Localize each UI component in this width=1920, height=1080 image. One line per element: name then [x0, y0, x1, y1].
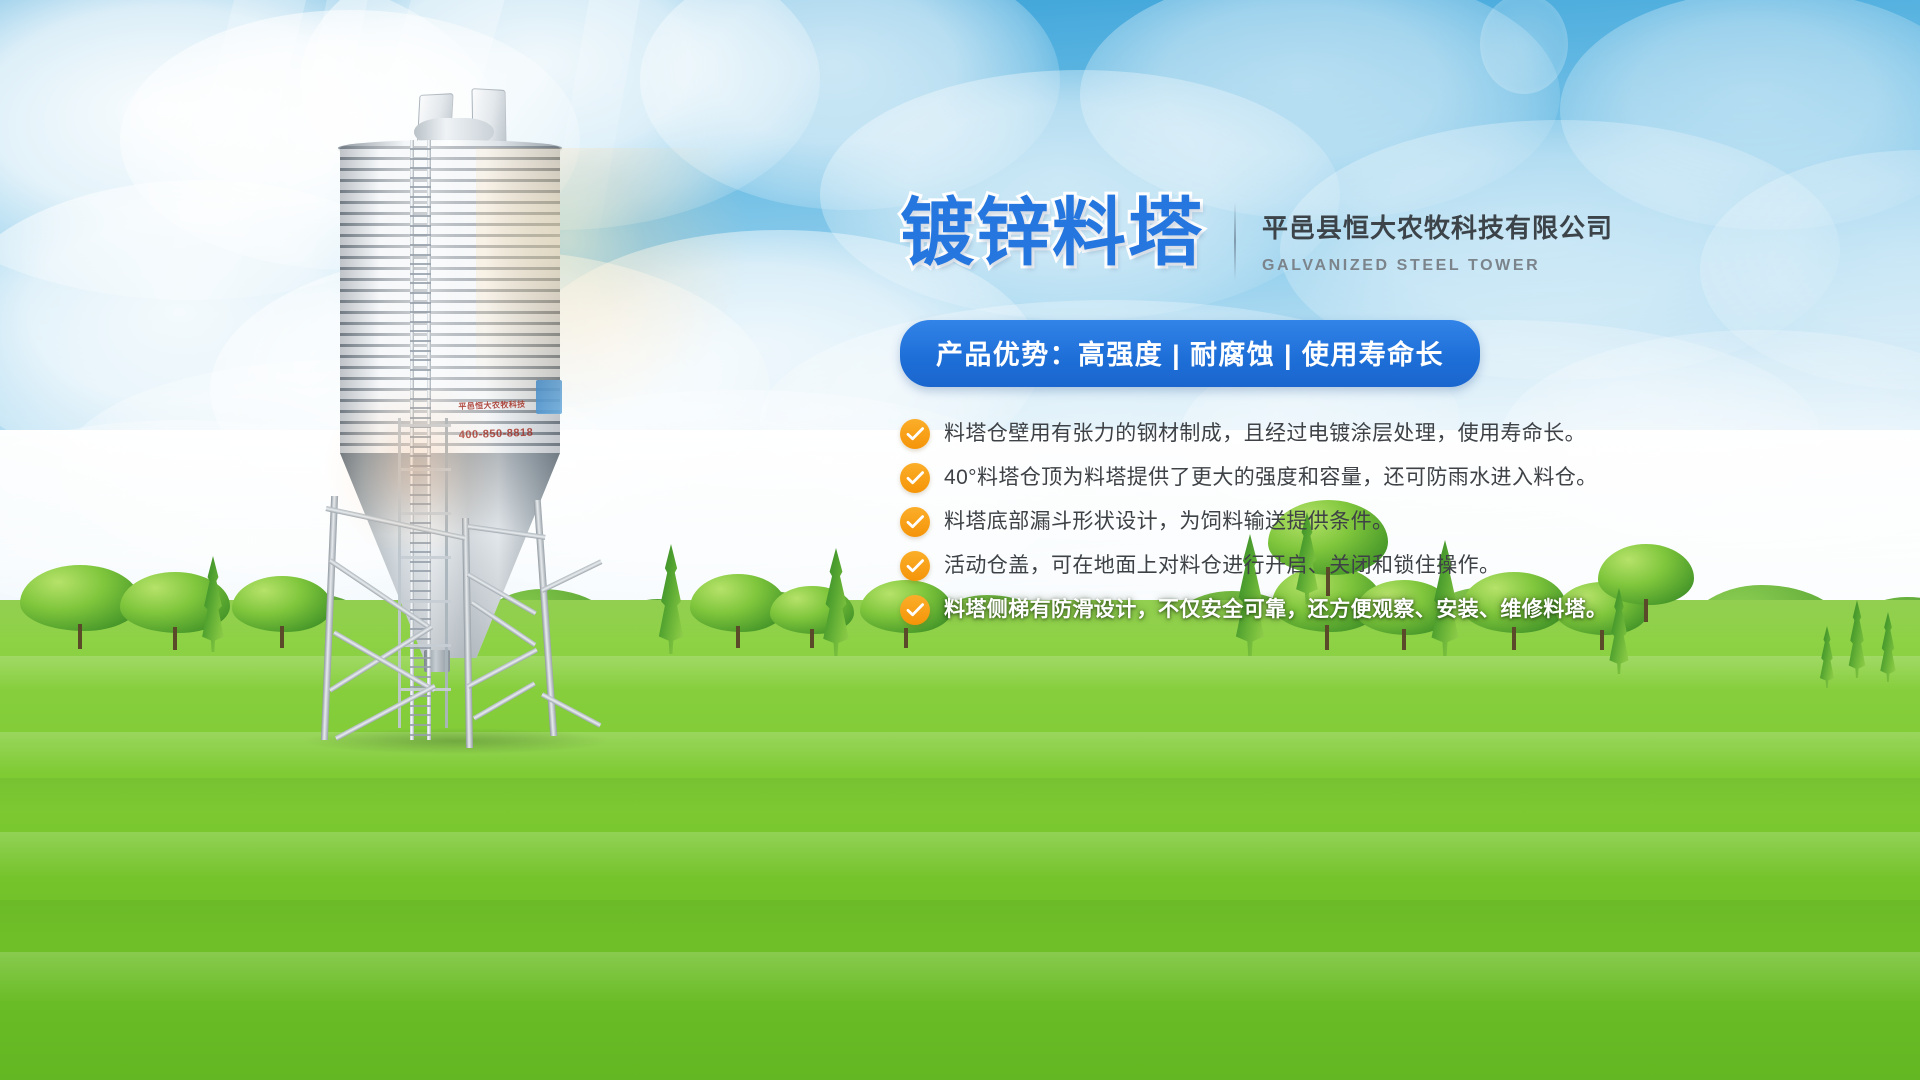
ladder-rung	[410, 225, 431, 227]
title-right-block: 平邑县恒大农牧科技有限公司 GALVANIZED STEEL TOWER	[1262, 196, 1613, 275]
feature-bullet-label: 料塔仓壁用有张力的钢材制成，且经过电镀涂层处理，使用寿命长。	[944, 420, 1586, 448]
page-title: 镀锌料塔	[900, 196, 1204, 270]
ladder-rung	[410, 369, 431, 371]
cage-bar	[401, 512, 451, 515]
ladder-rung	[410, 254, 431, 256]
advantages-badge: 产品优势：高强度 | 耐腐蚀 | 使用寿命长	[900, 320, 1480, 387]
ladder-rung	[410, 734, 431, 736]
check-icon	[900, 463, 930, 493]
conifer-tree	[652, 544, 690, 654]
content-panel: 镀锌料塔 平邑县恒大农牧科技有限公司 GALVANIZED STEEL TOWE…	[900, 196, 1910, 639]
feature-bullet: 料塔底部漏斗形状设计，为饲料输送提供条件。	[900, 507, 1910, 537]
cage-bar	[401, 600, 451, 603]
ladder-rung	[410, 273, 431, 275]
ladder-rung	[410, 244, 431, 246]
check-icon	[900, 419, 930, 449]
ladder-rung	[410, 148, 431, 150]
title-divider	[1234, 202, 1236, 280]
check-icon	[900, 595, 930, 625]
ladder-rung	[410, 398, 431, 400]
ladder-rung	[410, 359, 431, 361]
feature-bullet: 40°料塔仓顶为料塔提供了更大的强度和容量，还可防雨水进入料仓。	[900, 463, 1910, 493]
ladder-rung	[410, 302, 431, 304]
ladder-rung	[410, 292, 431, 294]
ladder-rung	[410, 330, 431, 332]
blue-side-fitting	[536, 380, 562, 414]
feature-bullet-label: 料塔底部漏斗形状设计，为饲料输送提供条件。	[944, 508, 1393, 536]
promotional-banner: 平邑恒大农牧科技 400-850-8818 镀锌料塔 平邑县恒大农牧科技有限公司…	[0, 0, 1920, 1080]
ladder-rung	[410, 196, 431, 198]
ladder-rung	[410, 407, 431, 409]
galvanized-steel-tower-image: 平邑恒大农牧科技 400-850-8818	[296, 88, 596, 748]
cross-brace	[473, 681, 536, 720]
ladder-rung	[410, 167, 431, 169]
ladder-rung	[410, 388, 431, 390]
cage-bar	[401, 556, 451, 559]
check-icon	[900, 551, 930, 581]
conifer-tree	[196, 556, 230, 652]
ladder-rung	[410, 321, 431, 323]
ladder-rung	[410, 215, 431, 217]
ladder-rung	[410, 234, 431, 236]
title-row: 镀锌料塔 平邑县恒大农牧科技有限公司 GALVANIZED STEEL TOWE…	[900, 196, 1910, 280]
ladder-rung	[410, 263, 431, 265]
english-subtitle: GALVANIZED STEEL TOWER	[1262, 257, 1613, 275]
cage-bar	[401, 424, 451, 427]
company-name: 平邑县恒大农牧科技有限公司	[1262, 208, 1613, 245]
ladder-rung	[410, 350, 431, 352]
feature-bullet-label: 40°料塔仓顶为料塔提供了更大的强度和容量，还可防雨水进入料仓。	[944, 464, 1598, 492]
feature-bullet: 活动仓盖，可在地面上对料仓进行开启、关闭和锁住操作。	[900, 551, 1910, 581]
check-icon	[900, 507, 930, 537]
ladder-rung	[410, 206, 431, 208]
ladder-rung	[410, 282, 431, 284]
cage-bar	[401, 468, 451, 471]
ladder-rung	[410, 177, 431, 179]
ladder-rung	[410, 378, 431, 380]
feature-bullet-list: 料塔仓壁用有张力的钢材制成，且经过电镀涂层处理，使用寿命长。40°料塔仓顶为料塔…	[900, 419, 1910, 625]
support-leg	[321, 496, 338, 740]
ladder-rung	[410, 340, 431, 342]
cross-brace	[541, 559, 603, 592]
ladder-rung	[410, 186, 431, 188]
cage-bar	[401, 644, 451, 647]
feature-bullet: 料塔侧梯有防滑设计，不仅安全可靠，还方便观察、安装、维修料塔。	[900, 595, 1910, 625]
ladder-rung	[410, 158, 431, 160]
conifer-tree	[816, 548, 856, 656]
feature-bullet: 料塔仓壁用有张力的钢材制成，且经过电镀涂层处理，使用寿命长。	[900, 419, 1910, 449]
ladder-rung	[410, 311, 431, 313]
feature-bullet-label: 活动仓盖，可在地面上对料仓进行开启、关闭和锁住操作。	[944, 552, 1500, 580]
feature-bullet-label: 料塔侧梯有防滑设计，不仅安全可靠，还方便观察、安装、维修料塔。	[944, 596, 1607, 624]
